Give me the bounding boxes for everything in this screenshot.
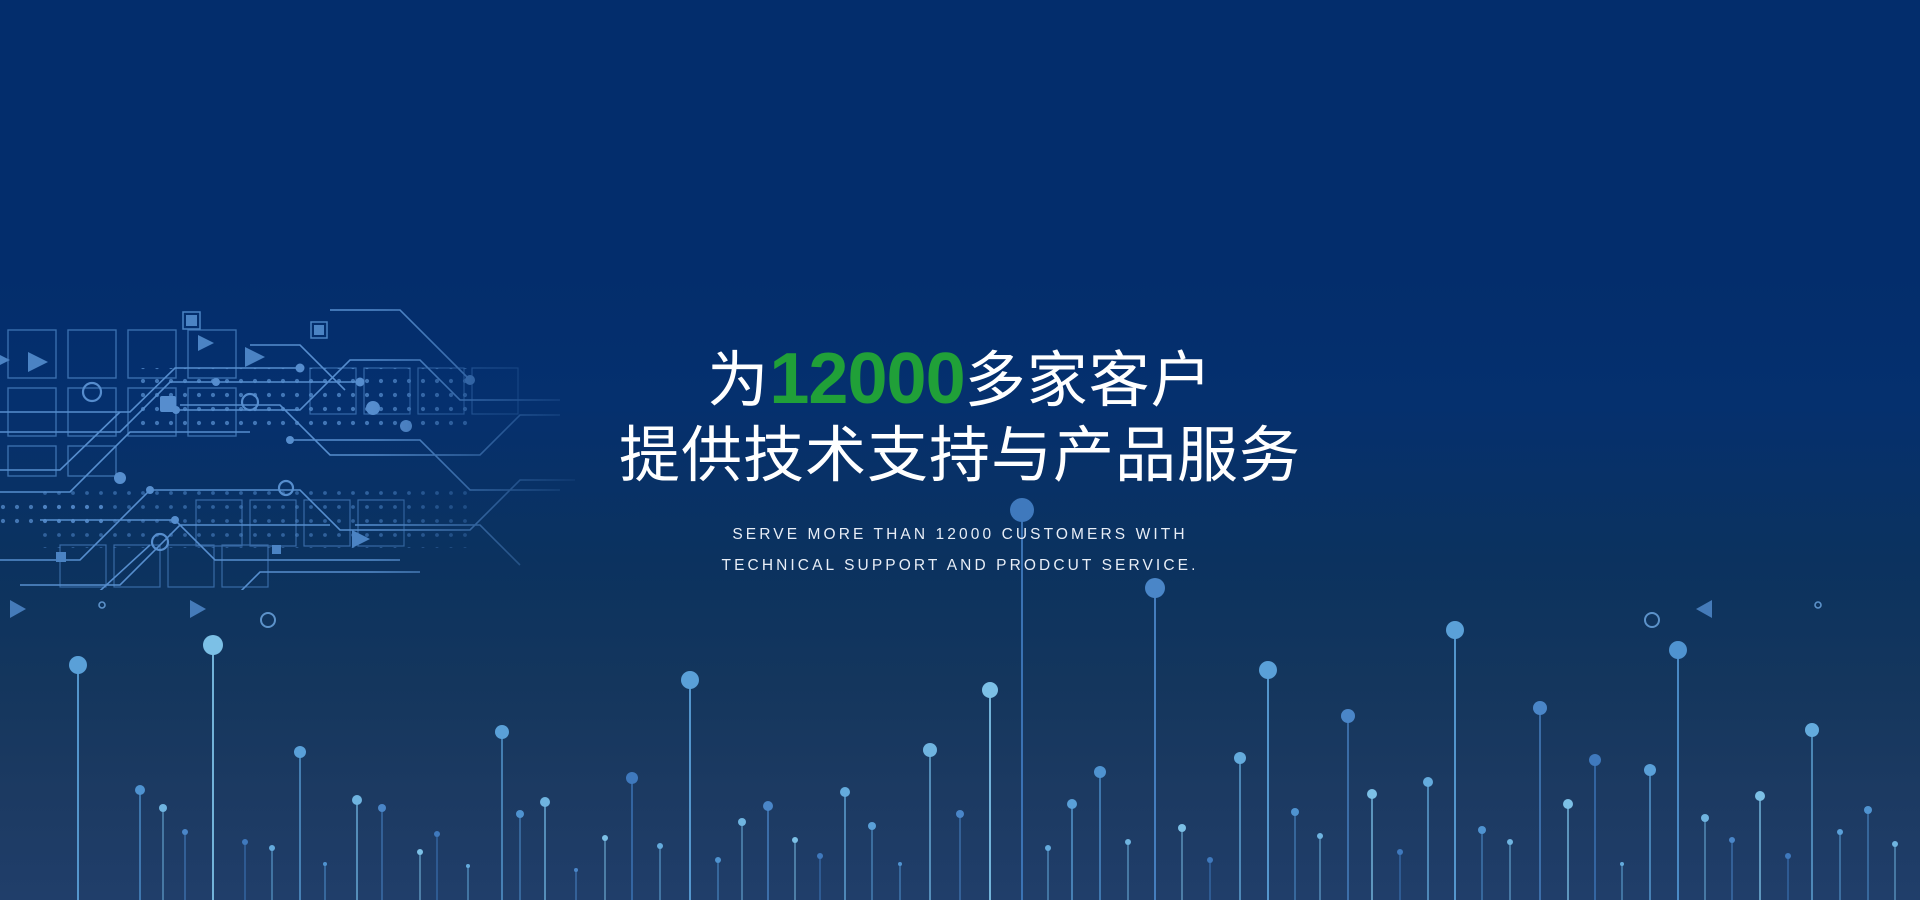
lollipop-dot (868, 822, 876, 830)
lollipop-dot (242, 839, 248, 845)
lollipop-dot (203, 635, 223, 655)
lollipop-dot (1729, 837, 1735, 843)
lollipop-dot (1701, 814, 1709, 822)
page-subtitle-en: SERVE MORE THAN 12000 CUSTOMERS WITH TEC… (0, 519, 1920, 581)
hero-banner: 为12000多家客户 提供技术支持与产品服务 SERVE MORE THAN 1… (0, 0, 1920, 900)
subtitle-line-1: SERVE MORE THAN 12000 CUSTOMERS WITH (0, 519, 1920, 550)
lollipop-dot (1533, 701, 1547, 715)
page-title: 为12000多家客户 (0, 338, 1920, 420)
lollipop-dot (982, 682, 998, 698)
lollipop-dot (1291, 808, 1299, 816)
lollipop-dot (135, 785, 145, 795)
lollipop-dot (763, 801, 773, 811)
lollipop-dot (466, 864, 470, 868)
customer-count: 12000 (769, 339, 964, 419)
lollipop-dot (1397, 849, 1403, 855)
lollipop-dot (1864, 806, 1872, 814)
lollipop-dot (1259, 661, 1277, 679)
lollipop-dot (1145, 578, 1165, 598)
lollipop-dot (923, 743, 937, 757)
lollipop-dot (1669, 641, 1687, 659)
lollipop-dot (323, 862, 327, 866)
lollipop-dot (1178, 824, 1186, 832)
lollipop-dot (1755, 791, 1765, 801)
lollipop-dot (182, 829, 188, 835)
lollipop-dot (715, 857, 721, 863)
lollipop-dot (1094, 766, 1106, 778)
lollipop-dot (1446, 621, 1464, 639)
lollipop-dot (1563, 799, 1573, 809)
lollipop-dot (657, 843, 663, 849)
lollipop-dot (1234, 752, 1246, 764)
lollipop-dot (516, 810, 524, 818)
lollipop-dot (434, 831, 440, 837)
lollipop-dot (378, 804, 386, 812)
lollipop-dot (1589, 754, 1601, 766)
lollipop-dot (626, 772, 638, 784)
lollipop-dot (1341, 709, 1355, 723)
lollipop-dot (495, 725, 509, 739)
lollipop-dot (1317, 833, 1323, 839)
lollipop-dot (681, 671, 699, 689)
lollipop-dot (540, 797, 550, 807)
lollipop-dot (1644, 764, 1656, 776)
lollipop-dot (574, 868, 578, 872)
lollipop-dot (792, 837, 798, 843)
lollipop-dot (602, 835, 608, 841)
headline-suffix: 多家客户 (965, 346, 1213, 414)
lollipop-dot (1067, 799, 1077, 809)
hero-text-block: 为12000多家客户 提供技术支持与产品服务 SERVE MORE THAN 1… (0, 338, 1920, 581)
headline-prefix: 为 (707, 346, 769, 414)
lollipop-dot (898, 862, 902, 866)
lollipop-dot (1892, 841, 1898, 847)
lollipop-dot (817, 853, 823, 859)
lollipop-dot (1045, 845, 1051, 851)
lollipop-dot (840, 787, 850, 797)
lollipop-dot (1805, 723, 1819, 737)
lollipop-dot (69, 656, 87, 674)
lollipop-dot (159, 804, 167, 812)
lollipop-dot (269, 845, 275, 851)
lollipop-dot (352, 795, 362, 805)
lollipop-dot (1785, 853, 1791, 859)
lollipop-dot (1837, 829, 1843, 835)
lollipop-dot (738, 818, 746, 826)
lollipop-dot (1478, 826, 1486, 834)
page-subtitle-cn: 提供技术支持与产品服务 (0, 420, 1920, 491)
lollipop-dot (1507, 839, 1513, 845)
lollipop-dot (417, 849, 423, 855)
lollipop-dot (1620, 862, 1624, 866)
lollipop-dot (1125, 839, 1131, 845)
lollipop-dot (1423, 777, 1433, 787)
lollipop-dot (956, 810, 964, 818)
subtitle-line-2: TECHNICAL SUPPORT AND PRODCUT SERVICE. (0, 550, 1920, 581)
lollipop-dot (1207, 857, 1213, 863)
lollipop-dot (1367, 789, 1377, 799)
lollipop-dot (294, 746, 306, 758)
